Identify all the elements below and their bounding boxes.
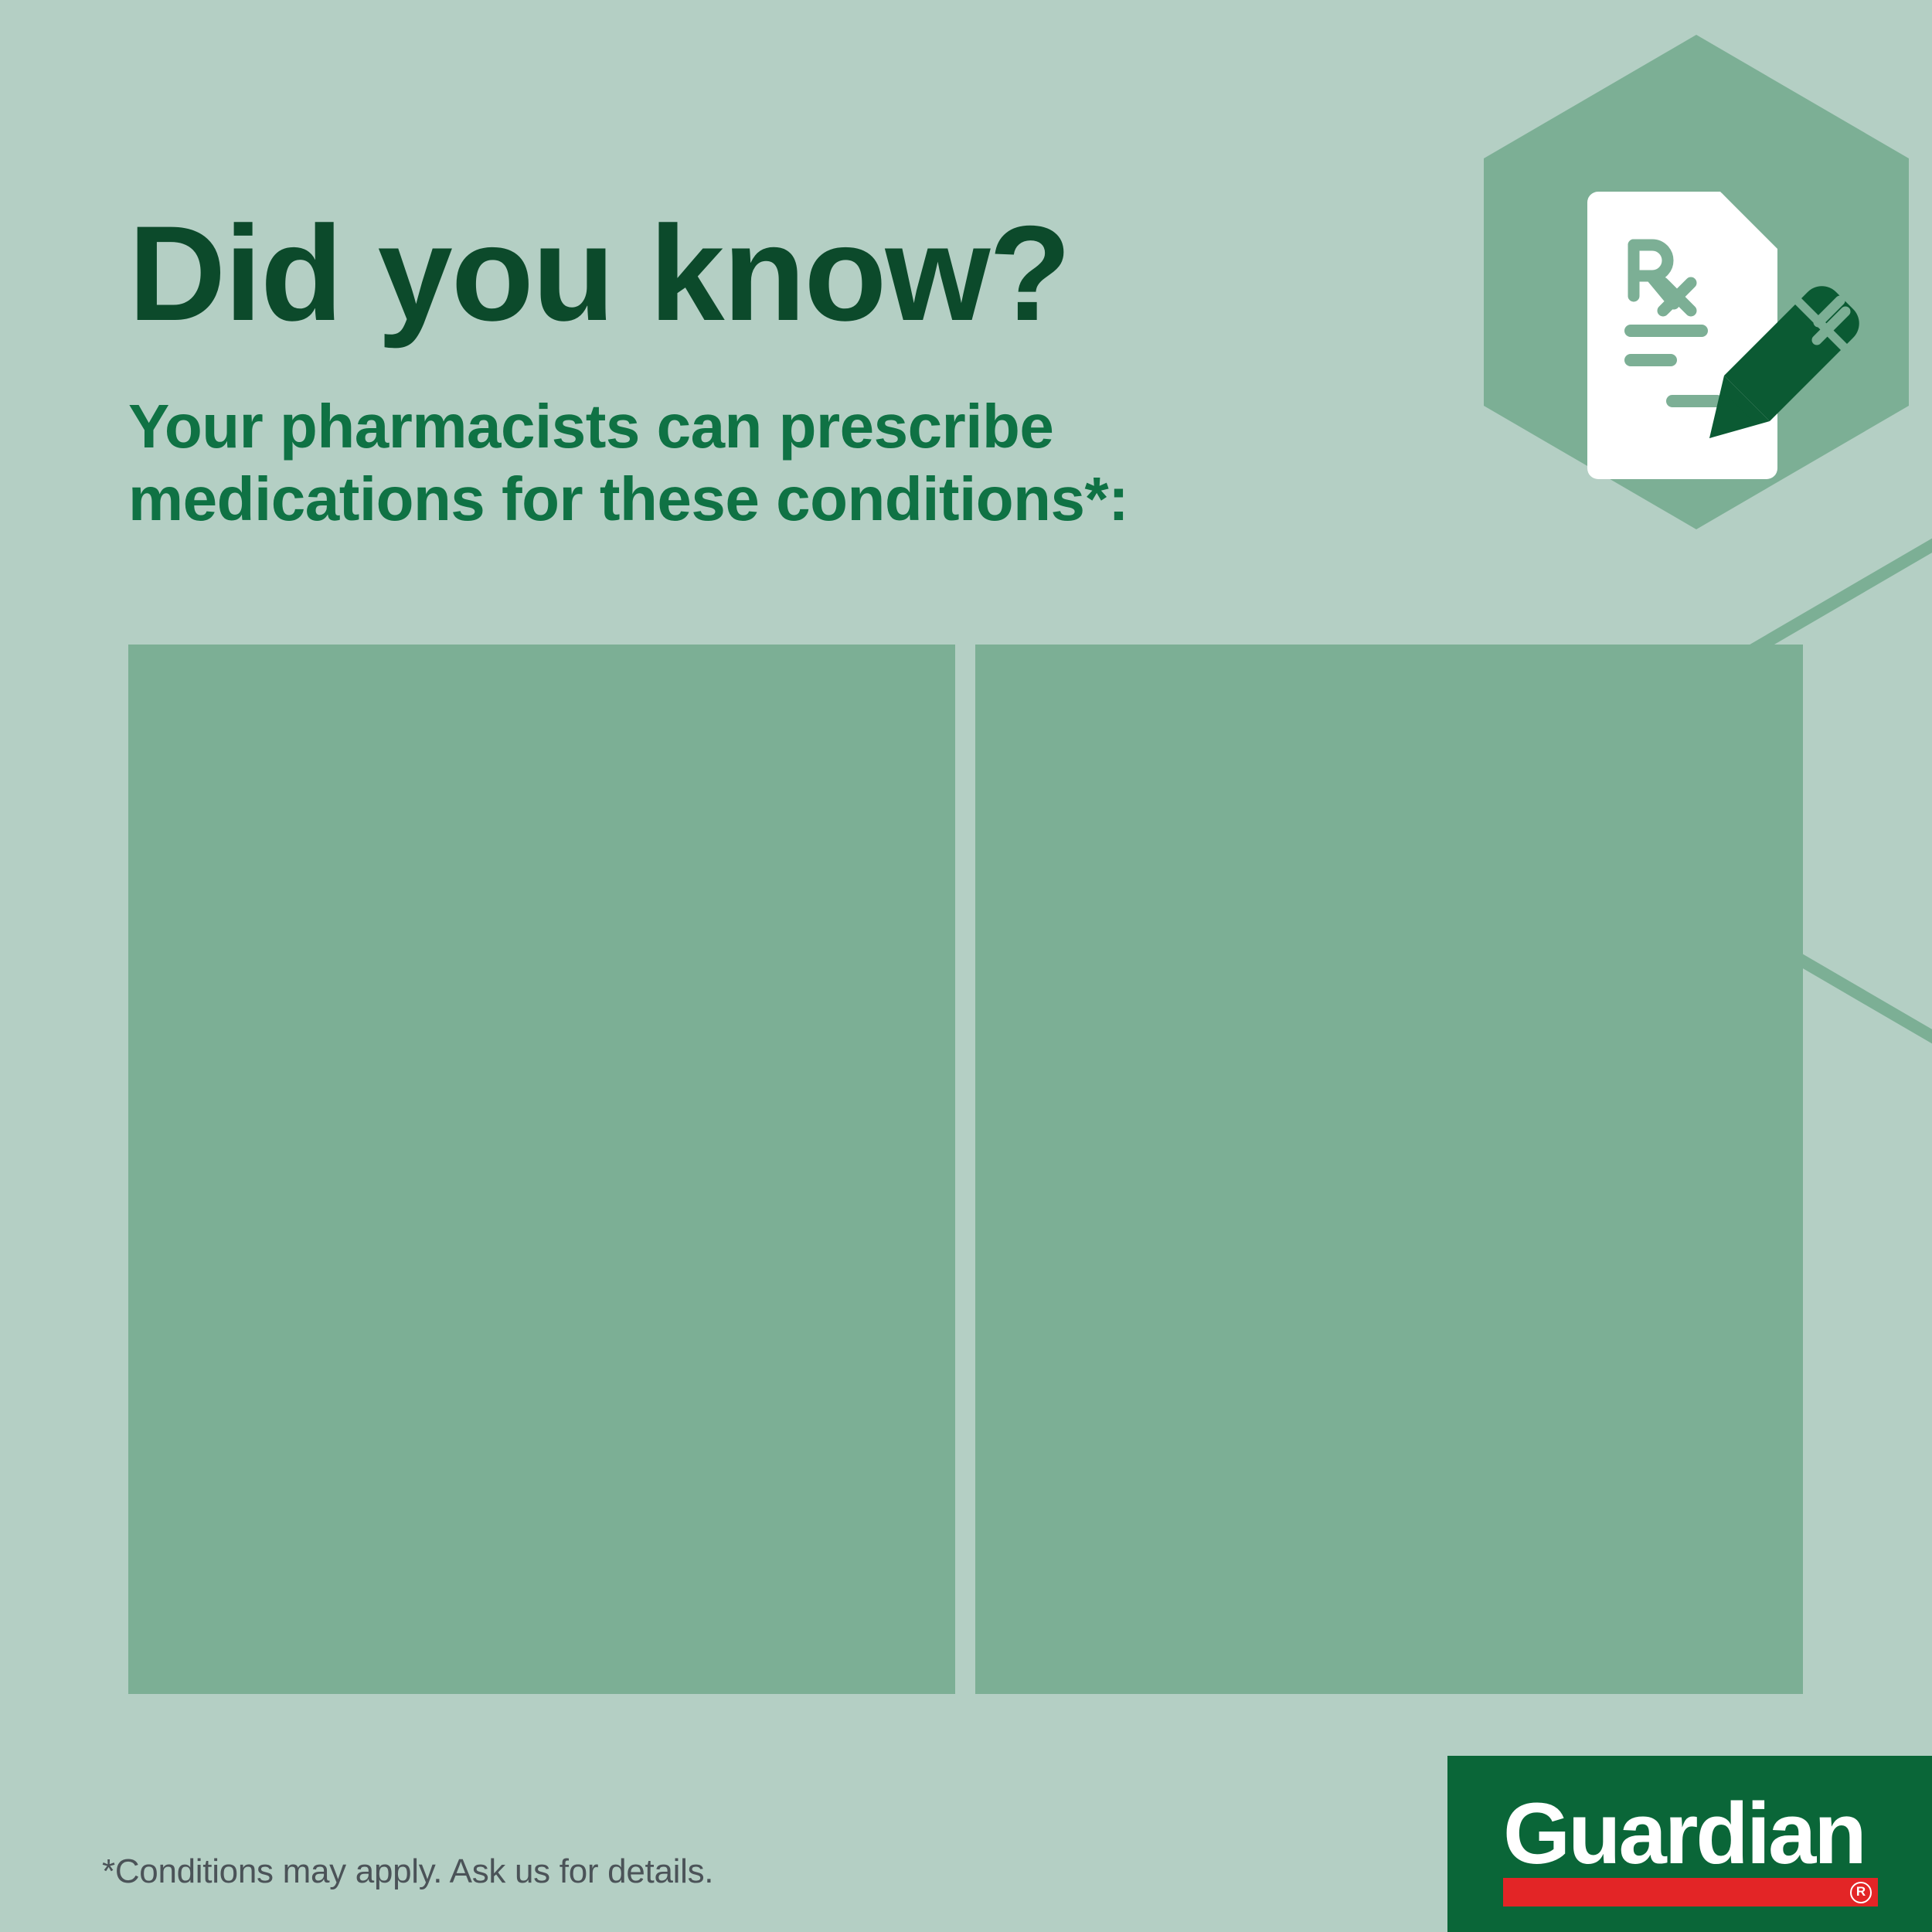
conditions-panel-right <box>975 645 1803 1694</box>
rx-symbol <box>1634 245 1691 311</box>
footnote-text: *Conditions may apply. Ask us for detail… <box>102 1852 713 1893</box>
poster-canvas: Did you know? Your pharmacists can presc… <box>0 0 1932 1932</box>
conditions-panel-right-content <box>975 645 1803 753</box>
pen-icon <box>1709 286 1859 438</box>
conditions-panel-left <box>128 645 955 1694</box>
registered-trademark-icon: R <box>1850 1882 1872 1903</box>
page-subtitle-line-2: medications for these conditions*: <box>128 463 1287 536</box>
guardian-logo-rule: R <box>1503 1878 1878 1906</box>
document-text-lines <box>1631 331 1717 401</box>
hexagon-filled-icon <box>1484 35 1909 529</box>
guardian-logo: Guardian R <box>1447 1756 1932 1932</box>
page-subtitle-line-1: Your pharmacists can prescribe <box>128 390 1287 463</box>
guardian-wordmark: Guardian <box>1503 1791 1865 1877</box>
conditions-panel-left-content <box>128 645 955 753</box>
conditions-panels <box>128 645 1803 1694</box>
document-page <box>1587 192 1777 479</box>
page-subtitle: Your pharmacists can prescribe medicatio… <box>128 390 1287 535</box>
page-title: Did you know? <box>128 206 1365 342</box>
